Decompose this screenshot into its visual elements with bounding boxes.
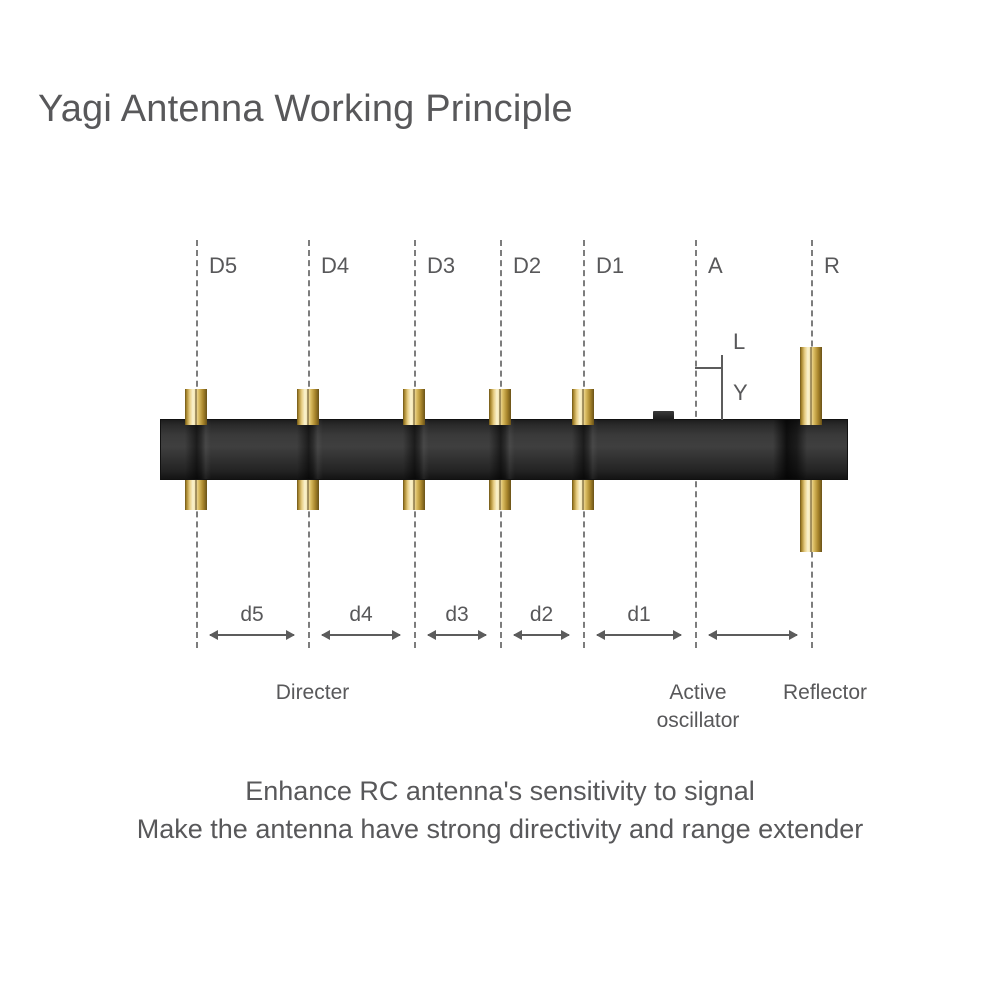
antenna-rod-upper-d5 — [185, 389, 207, 425]
dimension-label-d2: d2 — [500, 604, 583, 625]
boom-seam — [489, 420, 515, 479]
boom-shadow-band — [773, 420, 807, 479]
dimension-arrow-d4 — [322, 634, 400, 636]
boom-seam — [403, 420, 429, 479]
caption-line-1: Enhance RC antenna's sensitivity to sign… — [0, 778, 1000, 805]
dimension-arrow-d2 — [514, 634, 569, 636]
length-label-L: L — [733, 331, 745, 353]
group-label-director: Directer — [205, 679, 420, 707]
antenna-rod-lower-r — [800, 474, 822, 552]
element-label-a: A — [708, 255, 723, 277]
dimension-arrow-d1 — [597, 634, 681, 636]
boom-seam — [572, 420, 598, 479]
length-bracket-icon — [695, 367, 723, 369]
group-label-reflector: Reflector — [735, 679, 915, 707]
element-label-d4: D4 — [321, 255, 349, 277]
element-label-d5: D5 — [209, 255, 237, 277]
feed-tab-icon — [653, 411, 674, 420]
boom-seam — [185, 420, 211, 479]
axis-label-Y: Y — [733, 382, 748, 404]
antenna-rod-upper-d3 — [403, 389, 425, 425]
dimension-arrow-d3 — [428, 634, 486, 636]
dimension-label-d1: d1 — [583, 604, 695, 625]
element-label-d3: D3 — [427, 255, 455, 277]
antenna-boom — [160, 419, 848, 480]
antenna-rod-upper-r — [800, 347, 822, 425]
dimension-label-d4: d4 — [308, 604, 414, 625]
boom-seam — [297, 420, 323, 479]
caption-line-2: Make the antenna have strong directivity… — [0, 816, 1000, 843]
yagi-antenna-diagram: D5D4D3D2D1AR L Y d5d4d3d2d1 Directer Act… — [0, 0, 1000, 1000]
antenna-rod-upper-d2 — [489, 389, 511, 425]
antenna-rod-upper-d1 — [572, 389, 594, 425]
element-label-d2: D2 — [513, 255, 541, 277]
dimension-label-d5: d5 — [196, 604, 308, 625]
dimension-arrow-dr — [709, 634, 797, 636]
antenna-rod-upper-d4 — [297, 389, 319, 425]
length-bracket-stem-icon — [721, 355, 723, 420]
dimension-arrow-d5 — [210, 634, 294, 636]
diagram-page: Yagi Antenna Working Principle D5D4D3D2D… — [0, 0, 1000, 1000]
element-label-r: R — [824, 255, 840, 277]
element-label-d1: D1 — [596, 255, 624, 277]
dimension-label-d3: d3 — [414, 604, 500, 625]
